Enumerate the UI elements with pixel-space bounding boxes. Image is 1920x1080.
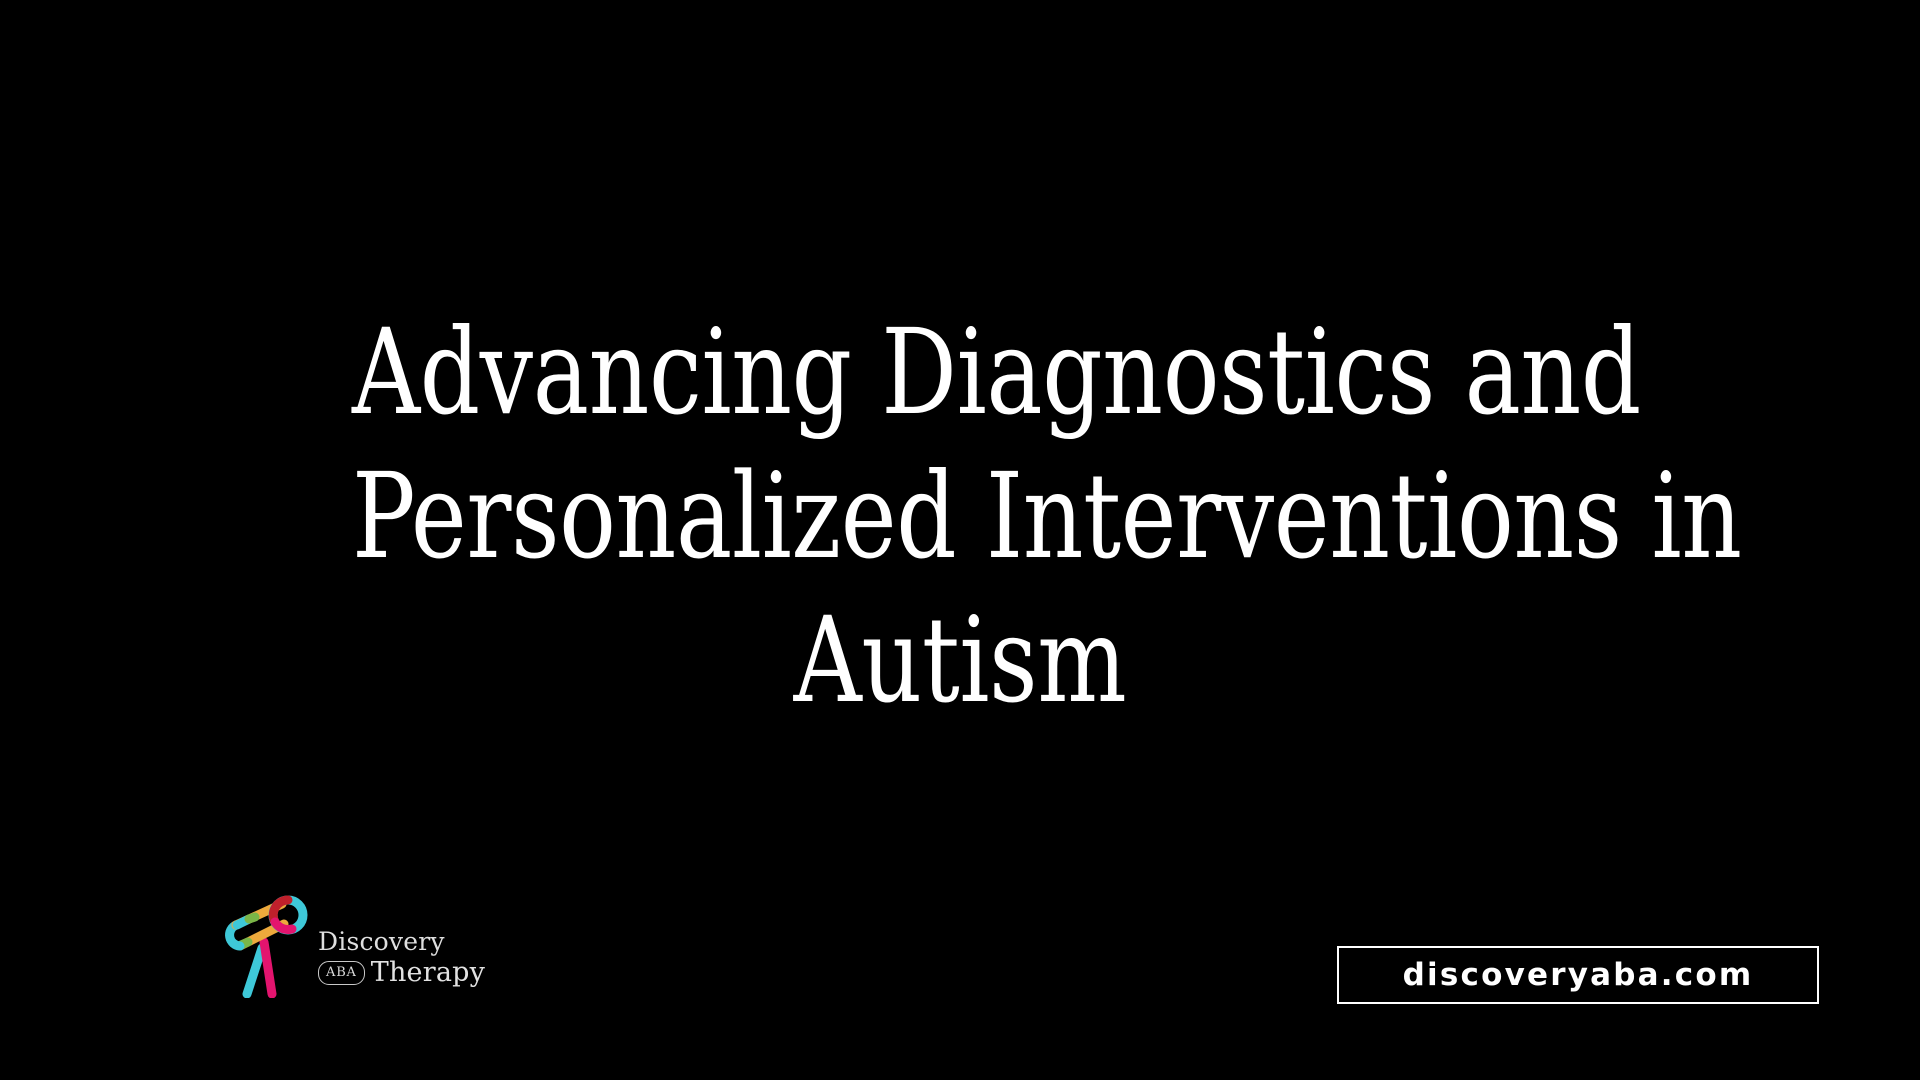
logo-wordmark: Discovery ABA Therapy (318, 900, 485, 988)
website-url-badge[interactable]: discoveryaba.com (1337, 946, 1819, 1004)
telescope-icon (222, 890, 314, 998)
title-line-1: Advancing Diagnostics and (352, 300, 1568, 444)
title-line-2: Personalized Interventions in (352, 444, 1568, 588)
logo-discovery-text: Discovery (318, 928, 485, 956)
logo-therapy-text: Therapy (371, 958, 485, 988)
brand-logo[interactable]: Discovery ABA Therapy (222, 888, 452, 1000)
page-title: Advancing Diagnostics and Personalized I… (0, 300, 1920, 732)
slide-canvas: Advancing Diagnostics and Personalized I… (0, 0, 1920, 1080)
aba-badge: ABA (318, 961, 365, 985)
title-line-3: Autism (352, 588, 1568, 732)
logo-second-line: ABA Therapy (318, 958, 485, 988)
website-url-text: discoveryaba.com (1403, 958, 1754, 992)
